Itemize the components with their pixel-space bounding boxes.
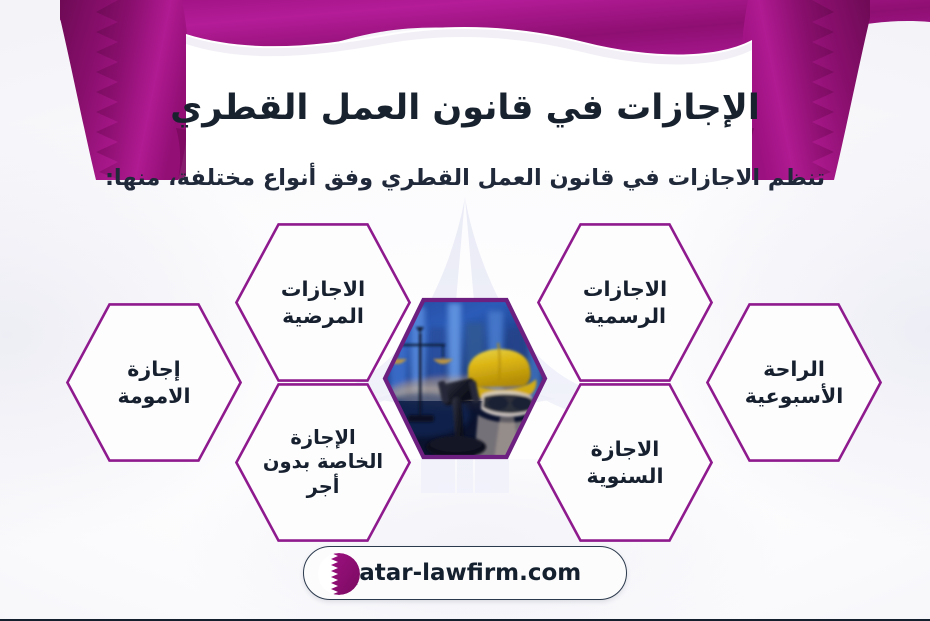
label-line: الخاصة بدون [263, 450, 383, 475]
label-line: الإجازة [290, 426, 355, 451]
hexagon-label-official-holidays: الاجازات الرسمية [536, 222, 714, 383]
hexagon-label-maternity: إجازة الامومة [65, 302, 243, 463]
hexagon-weekly-rest[interactable]: الراحة الأسبوعية [705, 302, 883, 463]
label-line: إجازة [127, 356, 180, 383]
label-line: الاجازات [281, 276, 365, 303]
website-badge[interactable]: qatar-lawfirm.com [303, 546, 627, 600]
hexagon-official-holidays[interactable]: الاجازات الرسمية [536, 222, 714, 383]
hexagon-label-weekly-rest: الراحة الأسبوعية [705, 302, 883, 463]
hexagon-annual-leave[interactable]: الاجازة السنوية [536, 382, 714, 543]
website-url[interactable]: qatar-lawfirm.com [343, 560, 582, 586]
label-line: الأسبوعية [745, 383, 843, 410]
label-line: الراحة [763, 356, 825, 383]
label-line: السنوية [587, 463, 664, 490]
label-line: الامومة [118, 383, 191, 410]
hexagon-label-annual-leave: الاجازة السنوية [536, 382, 714, 543]
label-line: المرضية [282, 303, 364, 330]
labor-law-photo-icon [382, 297, 548, 460]
center-photo-hexagon [382, 297, 548, 460]
label-line: الاجازات [583, 276, 667, 303]
hexagon-maternity[interactable]: إجازة الامومة [65, 302, 243, 463]
page-subtitle: تنظم الاجازات في قانون العمل القطري وفق … [0, 165, 930, 191]
infographic-poster: الإجازات في قانون العمل القطري تنظم الاج… [0, 0, 930, 621]
label-line: أجر [307, 475, 340, 500]
page-title: الإجازات في قانون العمل القطري [0, 88, 930, 129]
qatar-flag-circle-icon [318, 553, 360, 595]
label-line: الاجازة [591, 436, 660, 463]
label-line: الرسمية [584, 303, 666, 330]
